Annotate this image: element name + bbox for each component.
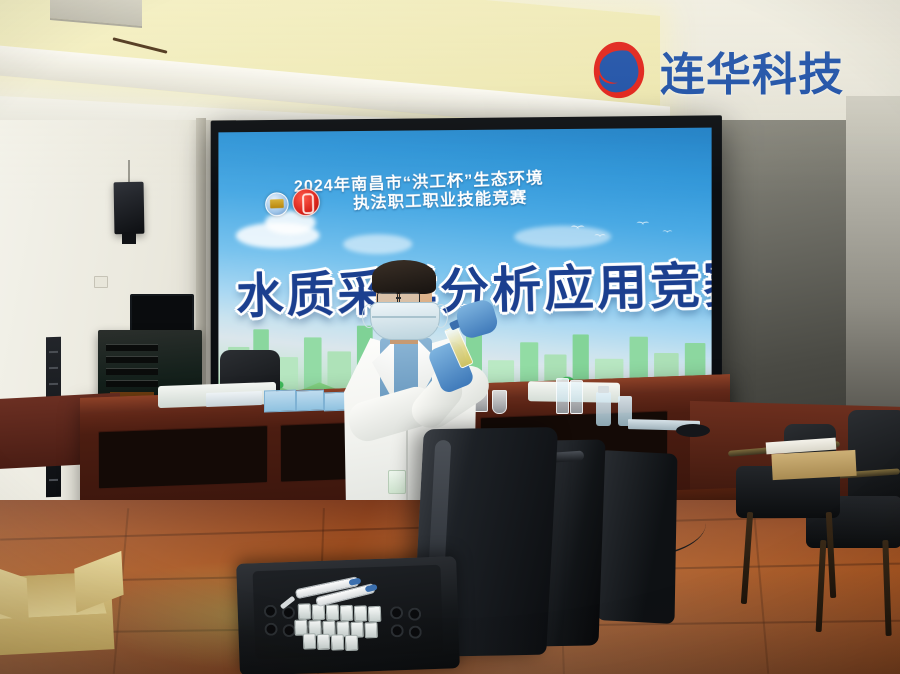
rack-slot: [106, 344, 158, 351]
grille-slot: [49, 383, 58, 385]
sample-vial: [364, 622, 378, 638]
id-badge: [388, 470, 406, 494]
foam-vial-slot: [408, 607, 421, 620]
bottle-cap: [598, 386, 609, 393]
cloud: [343, 234, 412, 254]
case-foam-insert: [253, 565, 444, 660]
box-flap-right: [74, 551, 123, 613]
foam-vial-slot: [264, 622, 277, 635]
floor-plank-line: [753, 508, 769, 673]
foam-vial-slot: [390, 624, 403, 637]
wall-speaker: [114, 182, 145, 235]
sample-vial: [340, 605, 354, 621]
box-flap-left: [0, 560, 29, 624]
sample-vial: [368, 606, 382, 622]
sample-vial: [326, 604, 340, 620]
foam-vial-slot: [264, 604, 277, 617]
bird-icon: [636, 222, 649, 228]
pipette-tip: [348, 578, 361, 586]
chair-backrest: [848, 410, 900, 506]
pipette-tip: [365, 584, 378, 593]
speaker-mount-bracket: [122, 232, 136, 244]
mask-ear-loop: [362, 304, 376, 328]
sample-vial: [303, 633, 317, 649]
rack-slot: [106, 368, 158, 375]
open-cardboard-box: [0, 553, 126, 656]
sample-vial: [317, 634, 331, 650]
surgical-mask: [370, 302, 440, 340]
desk-front-panel: [98, 425, 268, 489]
black-dish: [676, 424, 710, 437]
wall-outlet: [94, 276, 108, 288]
foam-vial-slot: [409, 625, 422, 638]
hair: [372, 260, 436, 294]
bird-icon: [571, 226, 585, 233]
mask-ear-loop: [434, 304, 448, 328]
grille-slot: [49, 479, 58, 481]
bird-icon: [594, 234, 605, 240]
graduated-cylinder: [570, 380, 583, 414]
closed-equipment-case-right: [597, 450, 678, 624]
graduated-cylinder: [556, 378, 569, 414]
water-bottle: [596, 392, 611, 426]
mask-pleat: [372, 316, 436, 318]
rack-slot: [106, 356, 158, 363]
sample-vial: [354, 605, 368, 621]
cardboard-box-on-chair: [771, 450, 856, 480]
flask-swirl-logo-icon: [588, 39, 650, 101]
reagent-kit-box: [296, 390, 324, 412]
rack-slot: [106, 380, 158, 387]
sample-vial: [331, 634, 345, 650]
bird-icon: [662, 230, 672, 235]
sample-tray: [206, 391, 262, 407]
brand-watermark: 连华科技: [588, 34, 888, 106]
grille-slot: [49, 351, 58, 353]
eyeglasses-bridge: [396, 297, 401, 299]
sample-vial: [298, 603, 312, 619]
brand-name-text: 连华科技: [660, 38, 844, 103]
speaker-cable: [128, 160, 130, 184]
reagent-kit-box: [264, 389, 296, 412]
photograph-scene: 2024年南昌市“洪工杯”生态环境 执法职工职业技能竞赛 水质采样分析应用竞赛: [0, 0, 900, 674]
sample-vial: [345, 635, 359, 651]
grille-slot: [49, 367, 58, 369]
foam-vial-slot: [390, 606, 403, 619]
